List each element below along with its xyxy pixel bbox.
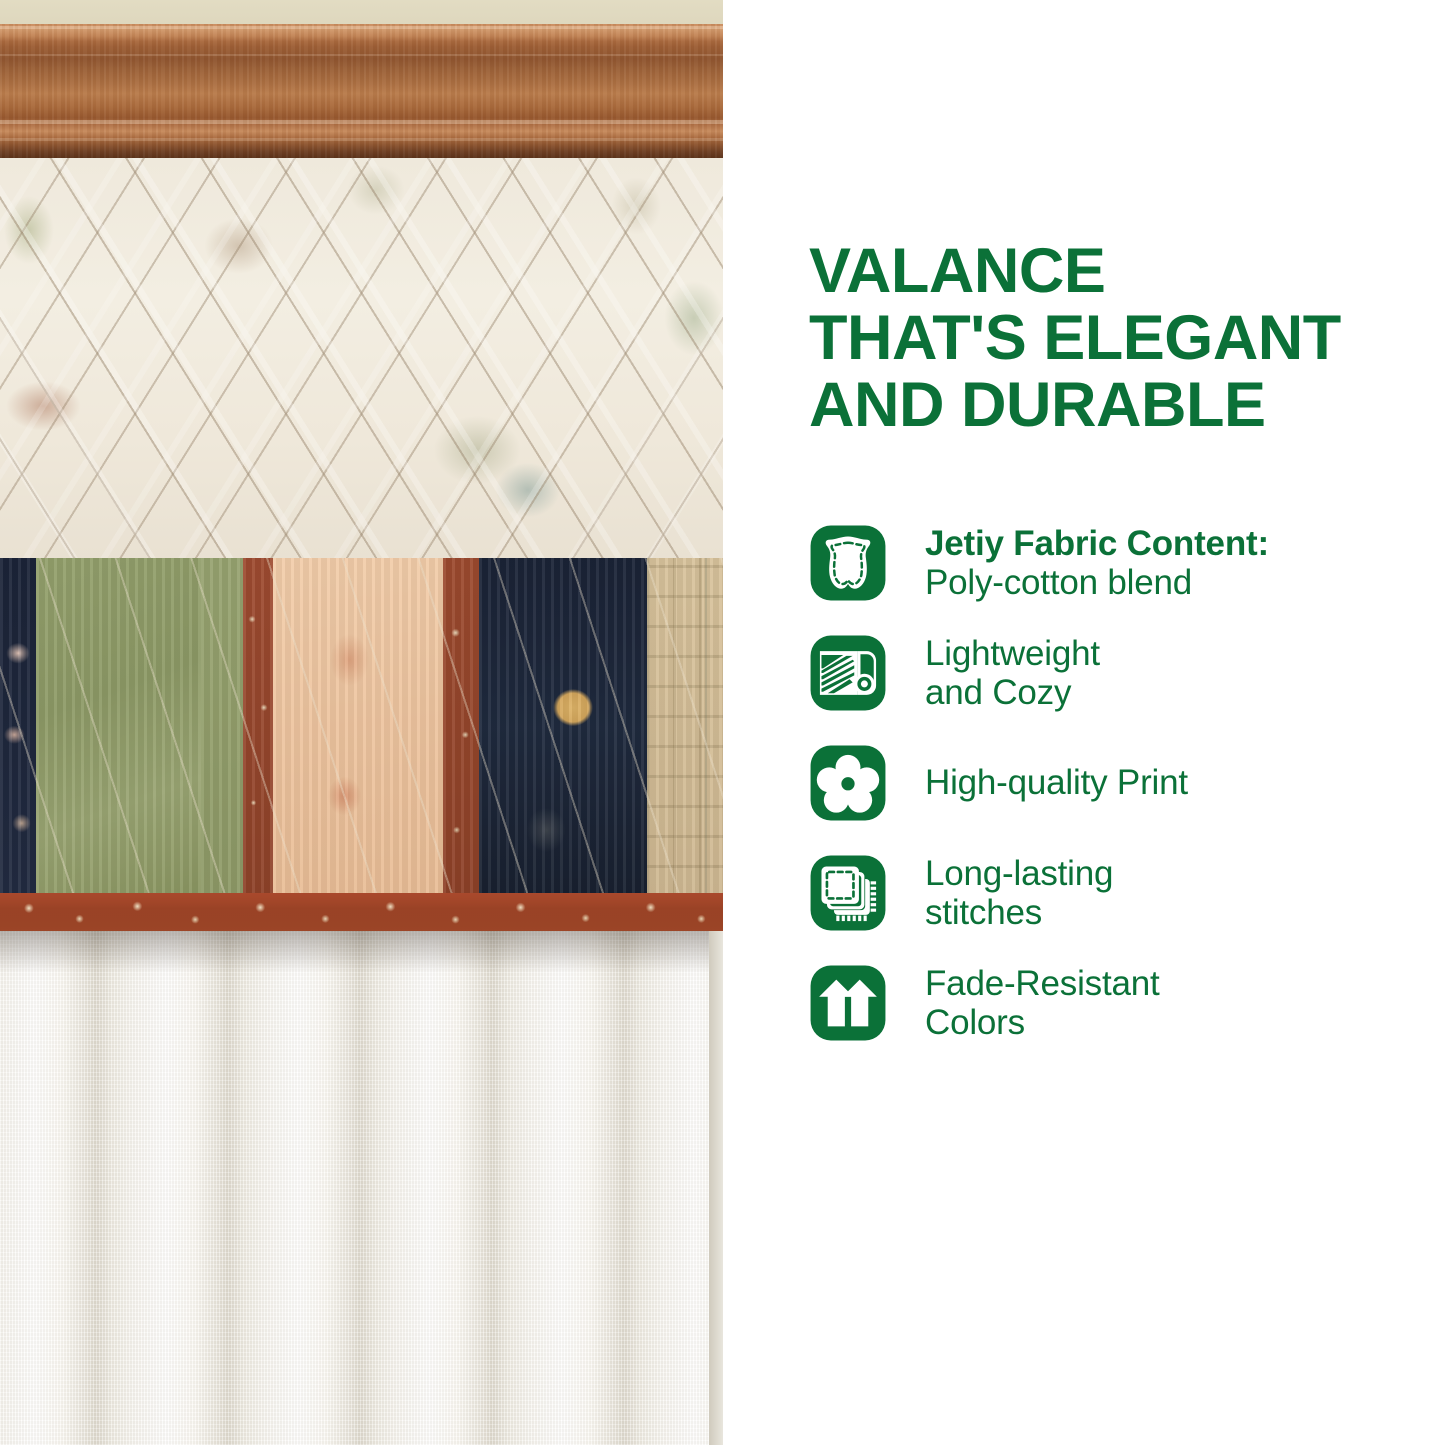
feature-item-lightweight: Lightweight and Cozy xyxy=(809,630,1419,716)
leather-hide-icon xyxy=(809,524,887,602)
headline-line-3: AND DURABLE xyxy=(809,372,1409,439)
feature-list: Jetiy Fabric Content: Poly-cotton blend xyxy=(809,520,1419,1070)
patch-panel-navy-gold-leaf xyxy=(479,558,647,898)
double-up-arrow-icon xyxy=(809,964,887,1042)
flower-icon xyxy=(809,744,887,822)
feature-text-stitches: Long-lasting stitches xyxy=(925,854,1113,932)
feature-item-stitches: Long-lasting stitches xyxy=(809,850,1419,936)
content-panel: VALANCE THAT'S ELEGANT AND DURABLE Jetiy… xyxy=(723,0,1445,1445)
patch-panel-tan-plaid xyxy=(647,558,723,898)
feature-label-line1: High-quality Print xyxy=(925,763,1188,802)
feature-text-print: High-quality Print xyxy=(925,763,1188,802)
patch-panel-rust-narrow xyxy=(243,558,273,898)
layered-fabric-stitch-icon xyxy=(809,854,887,932)
feature-item-print: High-quality Print xyxy=(809,740,1419,826)
feature-item-fabric-content: Jetiy Fabric Content: Poly-cotton blend xyxy=(809,520,1419,606)
feature-text-fabric-content: Jetiy Fabric Content: Poly-cotton blend xyxy=(925,524,1269,602)
feature-label-line1: Fade-Resistant xyxy=(925,964,1160,1003)
headline-line-2: THAT'S ELEGANT xyxy=(809,305,1409,372)
wall-background xyxy=(0,0,723,26)
infographic-canvas: VALANCE THAT'S ELEGANT AND DURABLE Jetiy… xyxy=(0,0,1445,1445)
feature-label-line1: Long-lasting xyxy=(925,854,1113,893)
rust-floral-binding xyxy=(0,893,723,931)
patch-panel-rust-narrow-2 xyxy=(443,558,479,898)
wood-cornice xyxy=(0,24,723,158)
feature-label-sub: Poly-cotton blend xyxy=(925,563,1269,602)
quilted-cream-valance-top xyxy=(0,158,723,558)
fabric-roll-icon xyxy=(809,634,887,712)
feature-text-lightweight: Lightweight and Cozy xyxy=(925,634,1100,712)
patch-panel-navy-floral xyxy=(0,558,36,898)
feature-label-sub: Colors xyxy=(925,1003,1160,1042)
patch-panel-sage-narrow xyxy=(201,558,243,898)
curtain-top-shadow xyxy=(0,931,723,973)
page-title: VALANCE THAT'S ELEGANT AND DURABLE xyxy=(809,238,1409,438)
headline-line-1: VALANCE xyxy=(809,238,1409,305)
feature-text-fade-resistant: Fade-Resistant Colors xyxy=(925,964,1160,1042)
patch-panel-peach-floral xyxy=(273,558,443,898)
curtain-right-edge xyxy=(709,931,723,1445)
product-photo xyxy=(0,0,723,1445)
feature-label-sub: and Cozy xyxy=(925,673,1100,712)
feature-label-strong: Jetiy Fabric Content: xyxy=(925,524,1269,563)
patch-panel-sage-green xyxy=(36,558,201,898)
feature-item-fade-resistant: Fade-Resistant Colors xyxy=(809,960,1419,1046)
sheer-linen-curtain xyxy=(0,931,723,1445)
patchwork-strip xyxy=(0,558,723,898)
feature-label-sub: stitches xyxy=(925,893,1113,932)
feature-label-line1: Lightweight xyxy=(925,634,1100,673)
